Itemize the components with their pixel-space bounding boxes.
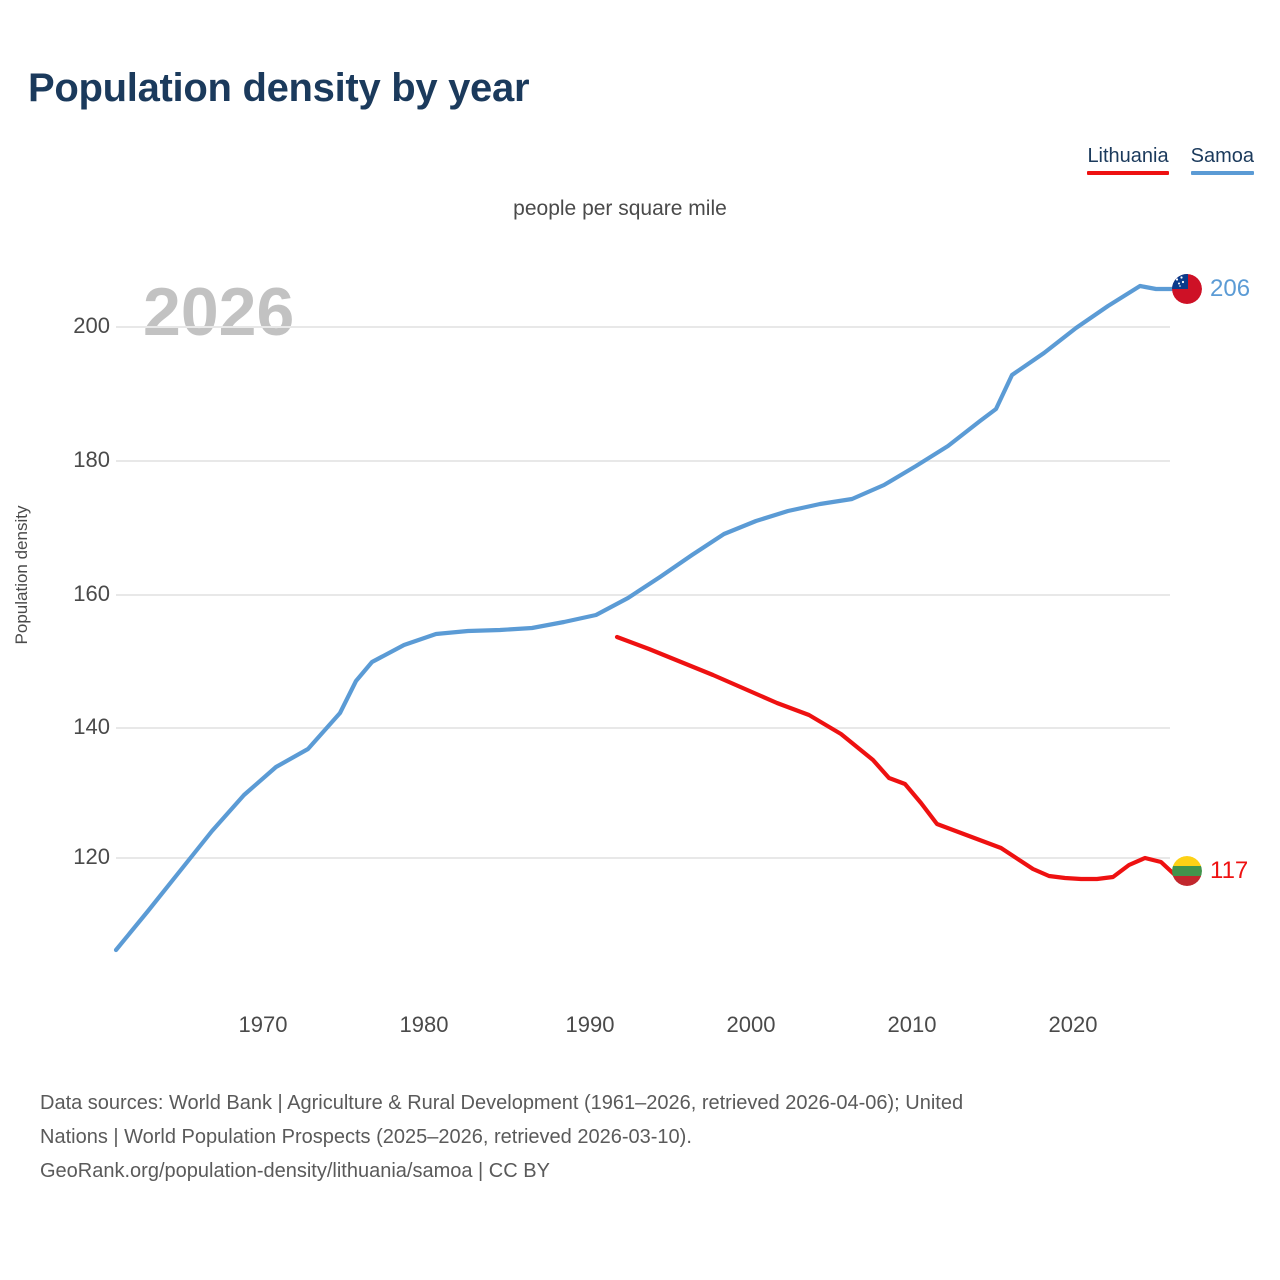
- end-marker-lithuania[interactable]: 117: [1172, 856, 1248, 886]
- footer: Data sources: World Bank | Agriculture &…: [40, 1086, 1255, 1188]
- end-value-samoa: 206: [1210, 275, 1250, 303]
- end-marker-samoa[interactable]: 206: [1172, 274, 1250, 304]
- plot-area: Population density 200 180 160 140 120 1…: [0, 0, 1280, 1060]
- chart-canvas: [0, 0, 1280, 1060]
- footer-line-2: Nations | World Population Prospects (20…: [40, 1120, 1255, 1154]
- chart-page: Population density by year Lithuania Sam…: [0, 0, 1280, 1280]
- samoa-flag-icon: [1172, 274, 1202, 304]
- series-samoa: [116, 286, 1172, 950]
- footer-line-1: Data sources: World Bank | Agriculture &…: [40, 1086, 1255, 1120]
- footer-line-3[interactable]: GeoRank.org/population-density/lithuania…: [40, 1154, 1255, 1188]
- lithuania-flag-icon: [1172, 856, 1202, 886]
- end-value-lithuania: 117: [1210, 857, 1248, 885]
- gridlines: [116, 327, 1170, 858]
- series-lithuania: [617, 637, 1175, 879]
